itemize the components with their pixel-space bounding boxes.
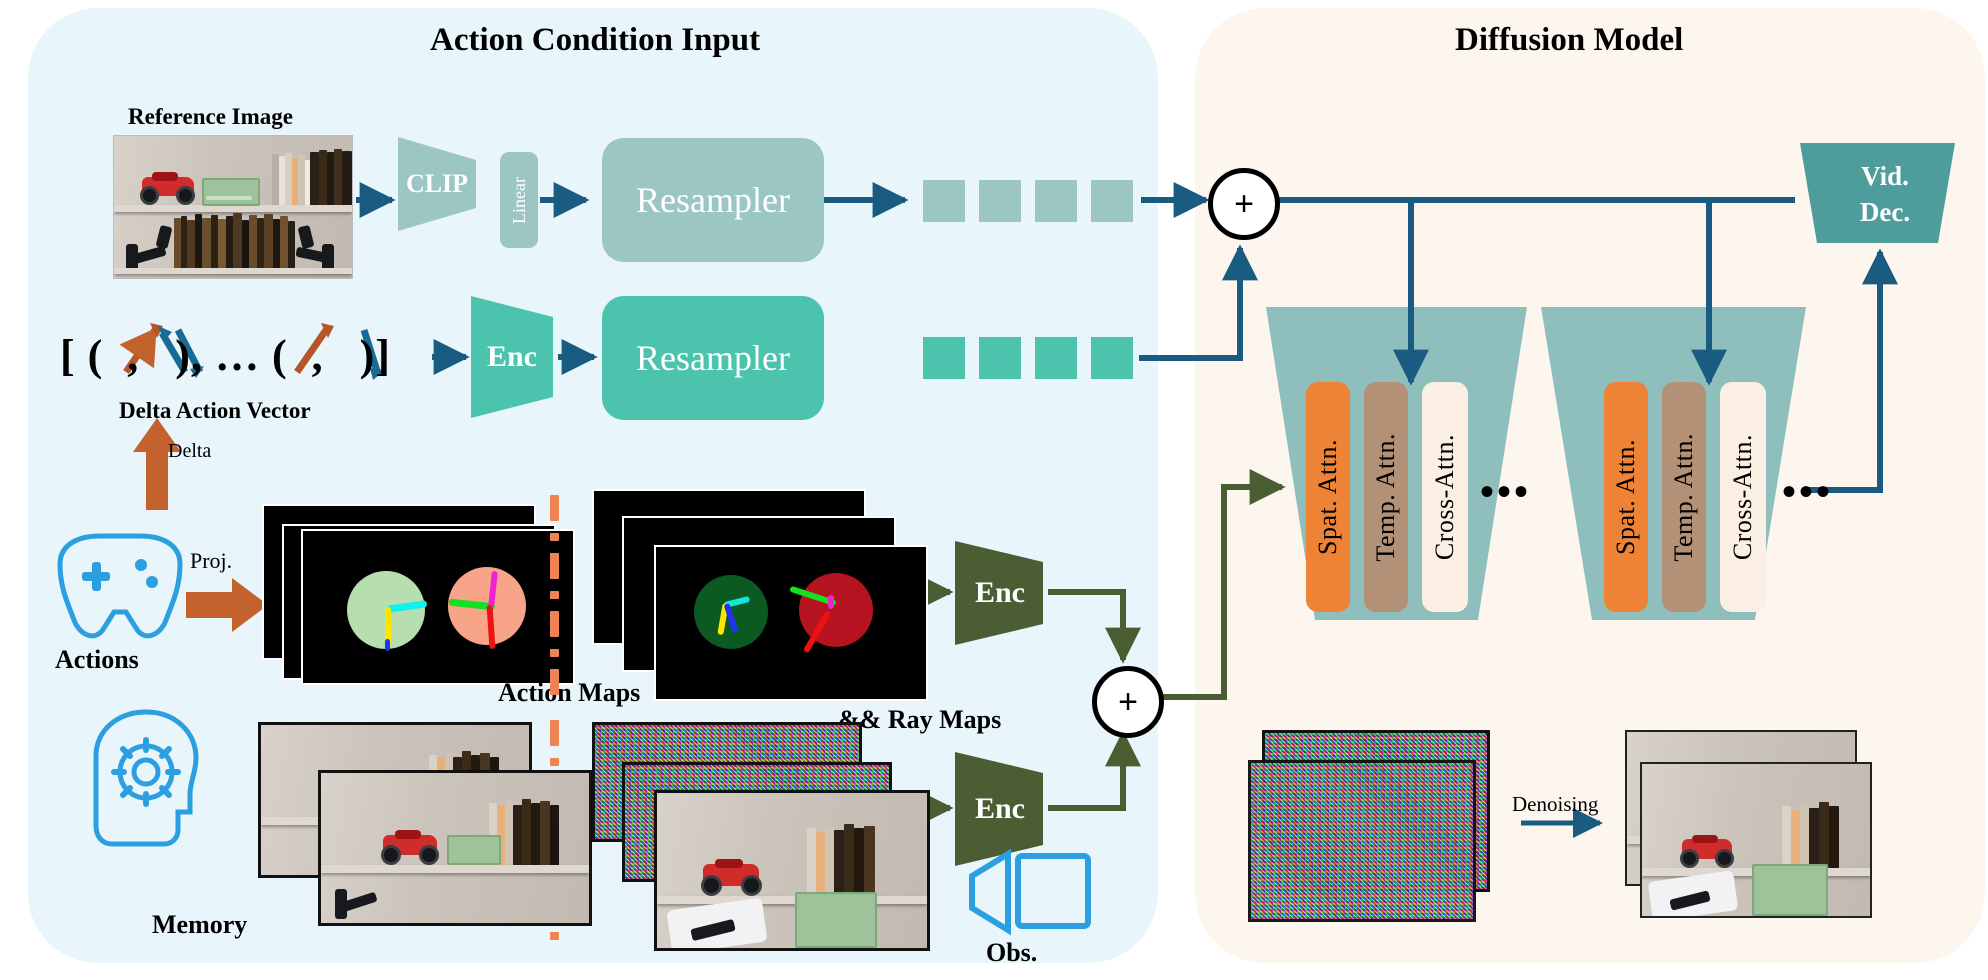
resampler-image-block: Resampler bbox=[602, 138, 824, 262]
unet2-spat-attn-label: Spat. Attn. bbox=[1611, 439, 1641, 555]
delta-arrow-label: Delta bbox=[168, 440, 211, 463]
image-token-1 bbox=[923, 180, 965, 222]
unet2-cross-attn-label: Cross-Attn. bbox=[1728, 434, 1758, 560]
ray-maps-label: && Ray Maps bbox=[838, 705, 1001, 735]
unet1-spat-attn-pill: Spat. Attn. bbox=[1306, 382, 1350, 612]
image-token-2 bbox=[979, 180, 1021, 222]
unet2-spat-attn-pill: Spat. Attn. bbox=[1604, 382, 1648, 612]
unet1-spat-attn-label: Spat. Attn. bbox=[1313, 439, 1343, 555]
enc-action-label: Enc bbox=[477, 338, 547, 376]
unet1-cross-attn-pill: Cross-Attn. bbox=[1422, 382, 1468, 612]
ray-map-frame-front bbox=[654, 545, 928, 701]
denoise-input-frame-front bbox=[1248, 760, 1476, 922]
linear-block: Linear bbox=[500, 152, 538, 248]
denoising-label: Denoising bbox=[1512, 792, 1598, 817]
unet2-temp-attn-label: Temp. Attn. bbox=[1669, 433, 1699, 562]
plus-symbol-1: + bbox=[1234, 185, 1254, 224]
denoise-output-frame-front bbox=[1640, 762, 1872, 918]
panel-title-left: Action Condition Input bbox=[430, 22, 760, 59]
action-map-frame-front bbox=[301, 529, 575, 685]
action-token-1 bbox=[923, 337, 965, 379]
unet2-temp-attn-pill: Temp. Attn. bbox=[1662, 382, 1706, 612]
panel-title-right: Diffusion Model bbox=[1455, 22, 1683, 59]
unet1-temp-attn-label: Temp. Attn. bbox=[1371, 433, 1401, 562]
enc-obs-label: Enc bbox=[962, 790, 1038, 828]
memory-photo-front bbox=[318, 770, 592, 926]
image-token-3 bbox=[1035, 180, 1077, 222]
resampler-image-label: Resampler bbox=[636, 179, 790, 221]
proj-label: Proj. bbox=[190, 548, 232, 574]
unet1-ellipsis: ••• bbox=[1480, 468, 1531, 515]
sum-node-conditioning: + bbox=[1208, 168, 1280, 240]
video-decoder-block: Vid. Dec. bbox=[1840, 158, 1930, 230]
image-token-4 bbox=[1091, 180, 1133, 222]
resampler-action-label: Resampler bbox=[636, 337, 790, 379]
dashed-separator-upper bbox=[550, 495, 559, 695]
memory-label: Memory bbox=[152, 910, 247, 940]
obs-photo-front bbox=[654, 790, 930, 951]
action-token-3 bbox=[1035, 337, 1077, 379]
reference-image-photo bbox=[113, 135, 353, 279]
delta-action-vector-expression: [ ( , ), … ( , )] bbox=[60, 330, 391, 381]
resampler-action-block: Resampler bbox=[602, 296, 824, 420]
delta-action-vector-label: Delta Action Vector bbox=[119, 398, 311, 424]
video-decoder-line-1: Vid. bbox=[1840, 158, 1930, 194]
clip-label: CLIP bbox=[402, 165, 472, 203]
reference-image-label: Reference Image bbox=[128, 104, 293, 130]
ray-map-right-magenta-stroke bbox=[828, 595, 834, 609]
action-token-2 bbox=[979, 337, 1021, 379]
unet1-cross-attn-label: Cross-Attn. bbox=[1430, 434, 1460, 560]
sum-node-latent: + bbox=[1092, 666, 1164, 738]
unet2-ellipsis: ••• bbox=[1782, 468, 1833, 515]
action-maps-label: Action Maps bbox=[498, 678, 640, 708]
action-token-4 bbox=[1091, 337, 1133, 379]
linear-label: Linear bbox=[509, 177, 530, 224]
unet2-cross-attn-pill: Cross-Attn. bbox=[1720, 382, 1766, 612]
enc-raymap-label: Enc bbox=[962, 574, 1038, 612]
actions-label: Actions bbox=[55, 645, 139, 675]
unet1-temp-attn-pill: Temp. Attn. bbox=[1364, 382, 1408, 612]
obs-label: Obs. bbox=[986, 938, 1037, 968]
plus-symbol-2: + bbox=[1118, 683, 1138, 722]
action-map-left-blue-stroke bbox=[385, 639, 390, 651]
video-decoder-line-2: Dec. bbox=[1840, 194, 1930, 230]
